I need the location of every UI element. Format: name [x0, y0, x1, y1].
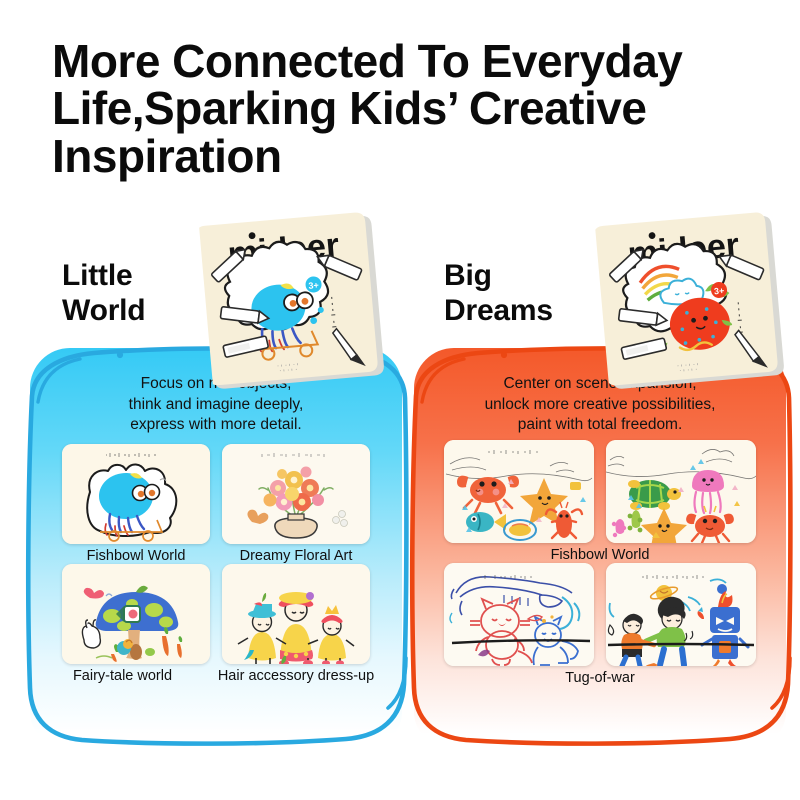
card-thumb-fairy-tale-world[interactable] [62, 564, 210, 664]
left-desc-line-3: express with more detail. [30, 415, 402, 436]
age-badge-right: 3+ [714, 286, 725, 297]
product-feature-poster: More Connected To Everyday Life,Sparking… [0, 0, 800, 800]
card-thumb-sea-turtle-jellyfish[interactable] [606, 440, 756, 543]
card-thumb-cats-tug-of-war[interactable] [444, 563, 594, 666]
card-thumb-kids-vs-robot[interactable] [606, 563, 756, 666]
age-badge-left: 3+ [308, 280, 319, 291]
left-card-grid: Fishbowl World Dreamy Floral Art [30, 444, 402, 684]
product-box-little-world[interactable]: mideer 3+ [199, 206, 396, 397]
left-card-row-1 [30, 444, 402, 544]
big-dreams-label-line-2: Dreams [444, 293, 553, 328]
left-caption-row-1: Fishbowl World Dreamy Floral Art [30, 548, 402, 564]
right-card-grid: Fishbowl World [414, 440, 786, 686]
caption-fishbowl-world: Fishbowl World [62, 548, 210, 564]
little-world-label: Little World [62, 258, 145, 329]
caption-hair-accessory-dress-up: Hair accessory dress-up [209, 668, 384, 684]
caption-tug-of-war: Tug-of-war [414, 670, 786, 686]
little-world-label-line-2: World [62, 293, 145, 328]
card-thumb-fishbowl-world[interactable] [62, 444, 210, 544]
right-card-row-1 [414, 440, 786, 543]
headline-line-2: Life,Sparking Kids’ Creative [52, 85, 772, 132]
caption-right-fishbowl-world: Fishbowl World [414, 547, 786, 563]
page-title: More Connected To Everyday Life,Sparking… [52, 38, 772, 180]
card-thumb-hair-accessory-dress-up[interactable] [222, 564, 370, 664]
little-world-panel: Focus on rich objects, think and imagine… [30, 348, 402, 746]
right-card-row-2 [414, 563, 786, 666]
right-desc-line-2: unlock more creative possibilities, [414, 395, 786, 416]
headline-line-1: More Connected To Everyday [52, 38, 772, 85]
left-card-row-2 [30, 564, 402, 664]
big-dreams-label: Big Dreams [444, 258, 553, 329]
caption-fairy-tale-world: Fairy-tale world [49, 668, 197, 684]
left-caption-row-2: Fairy-tale world Hair accessory dress-up [30, 668, 402, 684]
right-desc-line-3: paint with total freedom. [414, 415, 786, 436]
caption-dreamy-floral-art: Dreamy Floral Art [222, 548, 370, 564]
little-world-label-line-1: Little [62, 258, 145, 293]
product-box-big-dreams[interactable]: mideer [595, 206, 798, 398]
card-thumb-sea-crab-starfish[interactable] [444, 440, 594, 543]
big-dreams-panel: Center on scene expansion, unlock more c… [414, 348, 786, 746]
headline-line-3: Inspiration [52, 133, 772, 180]
left-desc-line-2: think and imagine deeply, [30, 395, 402, 416]
card-thumb-dreamy-floral-art[interactable] [222, 444, 370, 544]
big-dreams-label-line-1: Big [444, 258, 553, 293]
